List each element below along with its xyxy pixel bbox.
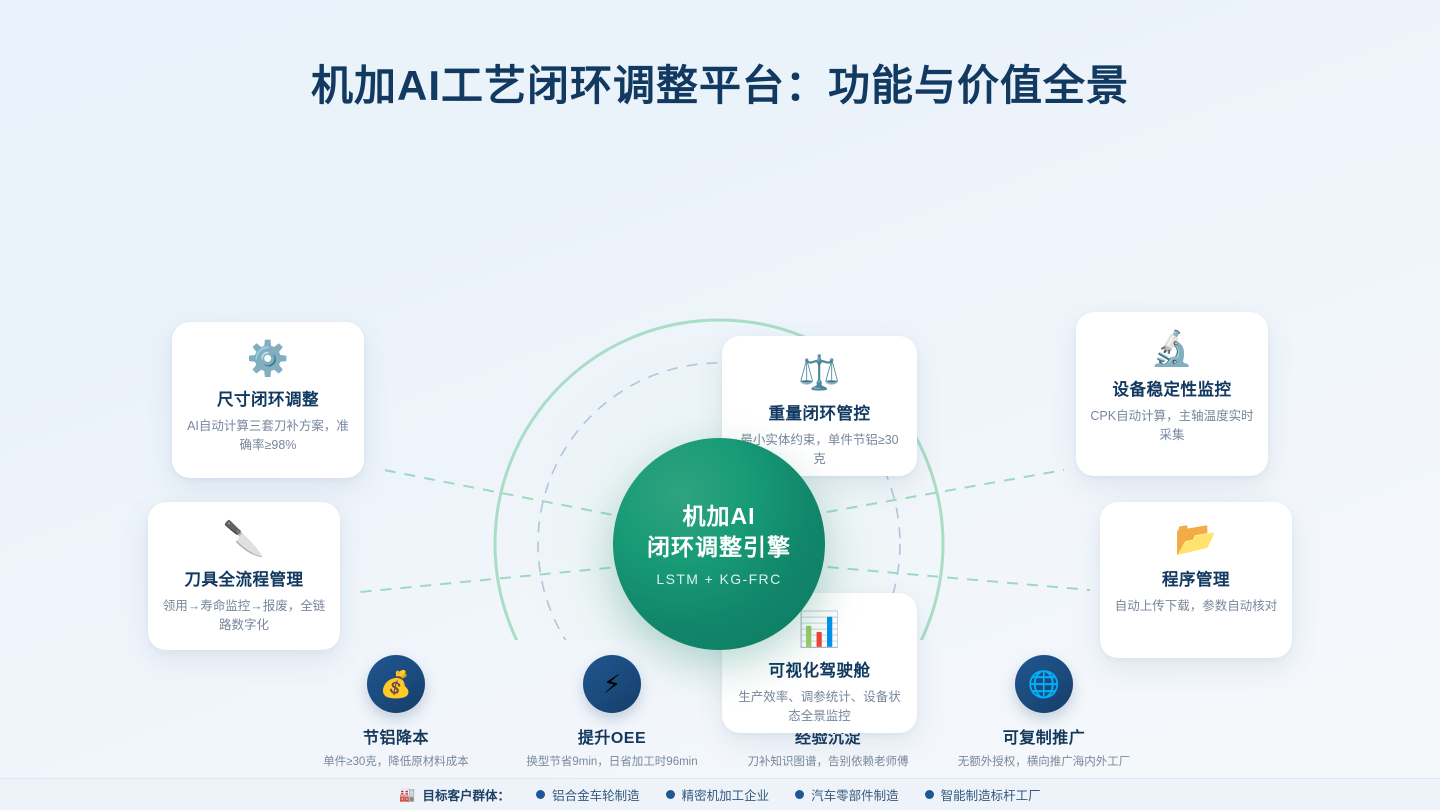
value-item-oee-improvement[interactable]: ⚡ 提升OEE 换型节省9min，日省加工时96min: [504, 655, 720, 769]
folder-icon: 📂: [1175, 522, 1217, 556]
feature-card-desc: 领用→寿命监控→报废，全链路数字化: [162, 597, 326, 635]
feature-card-title: 重量闭环管控: [769, 400, 871, 424]
bar-chart-icon: 📊: [798, 613, 840, 647]
feature-card-desc: CPK自动计算，主轴温度实时采集: [1090, 407, 1254, 445]
hub-subtitle: LSTM + KG-FRC: [656, 571, 781, 587]
target-customer-item-3[interactable]: 汽车零部件制造: [795, 785, 899, 804]
hub-line1: 机加AI: [683, 501, 756, 531]
value-item-desc: 换型节省9min，日省加工时96min: [526, 753, 697, 769]
knife-icon: 🔪: [223, 522, 265, 556]
target-customer-label: 目标客户群体：: [423, 785, 511, 804]
feature-card-tool-lifecycle[interactable]: 🔪 刀具全流程管理 领用→寿命监控→报废，全链路数字化: [148, 502, 340, 650]
money-bag-icon: 💰: [367, 655, 425, 713]
target-customer-item-2[interactable]: 精密机加工企业: [666, 785, 770, 804]
lightning-bolt-icon: ⚡: [583, 655, 641, 713]
feature-card-title: 尺寸闭环调整: [217, 386, 319, 410]
target-customer-label-group: 🏭 目标客户群体：: [399, 785, 510, 804]
feature-card-desc: AI自动计算三套刀补方案，准确率≥98%: [186, 417, 350, 455]
page-title: 机加AI工艺闭环调整平台：功能与价值全景: [0, 52, 1440, 113]
feature-card-title: 设备稳定性监控: [1113, 376, 1232, 400]
value-item-desc: 无额外授权，横向推广海内外工厂: [958, 753, 1131, 769]
target-customer-item-label: 智能制造标杆工厂: [941, 785, 1041, 804]
value-item-desc: 刀补知识图谱，告别依赖老师傅: [748, 753, 909, 769]
bullet-dot-icon: [536, 790, 545, 799]
feature-card-dimension-closed-loop[interactable]: ⚙️ 尺寸闭环调整 AI自动计算三套刀补方案，准确率≥98%: [172, 322, 364, 478]
value-item-desc: 单件≥30克，降低原材料成本: [323, 753, 469, 769]
gear-icon: ⚙️: [247, 342, 289, 376]
target-customer-item-label: 铝合金车轮制造: [552, 785, 640, 804]
factory-icon: 🏭: [399, 787, 415, 803]
globe-icon: 🌐: [1015, 655, 1073, 713]
value-row: 💰 节铝降本 单件≥30克，降低原材料成本 ⚡ 提升OEE 换型节省9min，日…: [0, 655, 1440, 765]
target-customer-item-4[interactable]: 智能制造标杆工厂: [925, 785, 1041, 804]
feature-card-equipment-stability[interactable]: 🔬 设备稳定性监控 CPK自动计算，主轴温度实时采集: [1076, 312, 1268, 476]
hub-line2: 闭环调整引擎: [647, 532, 791, 562]
value-item-cost-saving[interactable]: 💰 节铝降本 单件≥30克，降低原材料成本: [288, 655, 504, 769]
target-customer-item-1[interactable]: 铝合金车轮制造: [536, 785, 640, 804]
feature-card-title: 程序管理: [1162, 566, 1230, 590]
value-item-replicable-rollout[interactable]: 🌐 可复制推广 无额外授权，横向推广海内外工厂: [936, 655, 1152, 769]
bullet-dot-icon: [795, 790, 804, 799]
feature-card-desc: 自动上传下载，参数自动核对: [1115, 597, 1278, 616]
target-customer-item-label: 汽车零部件制造: [811, 785, 899, 804]
value-item-title: 提升OEE: [578, 724, 646, 748]
diagram-stage: 机加AI 闭环调整引擎 LSTM + KG-FRC ⚙️ 尺寸闭环调整 AI自动…: [0, 140, 1440, 640]
bullet-dot-icon: [925, 790, 934, 799]
feature-card-desc: 生产效率、调参统计、设备状态全景监控: [736, 688, 903, 726]
bullet-dot-icon: [666, 790, 675, 799]
balance-scale-icon: ⚖️: [798, 356, 840, 390]
feature-card-title: 可视化驾驶舱: [769, 657, 871, 681]
feature-card-program-management[interactable]: 📂 程序管理 自动上传下载，参数自动核对: [1100, 502, 1292, 658]
feature-card-title: 刀具全流程管理: [185, 566, 304, 590]
center-hub[interactable]: 机加AI 闭环调整引擎 LSTM + KG-FRC: [613, 438, 825, 650]
value-item-title: 节铝降本: [363, 724, 429, 748]
microscope-icon: 🔬: [1151, 332, 1193, 366]
value-item-title: 可复制推广: [1003, 724, 1086, 748]
target-customer-bar: 🏭 目标客户群体： 铝合金车轮制造 精密机加工企业 汽车零部件制造 智能制造标杆…: [0, 778, 1440, 810]
target-customer-item-label: 精密机加工企业: [682, 785, 770, 804]
